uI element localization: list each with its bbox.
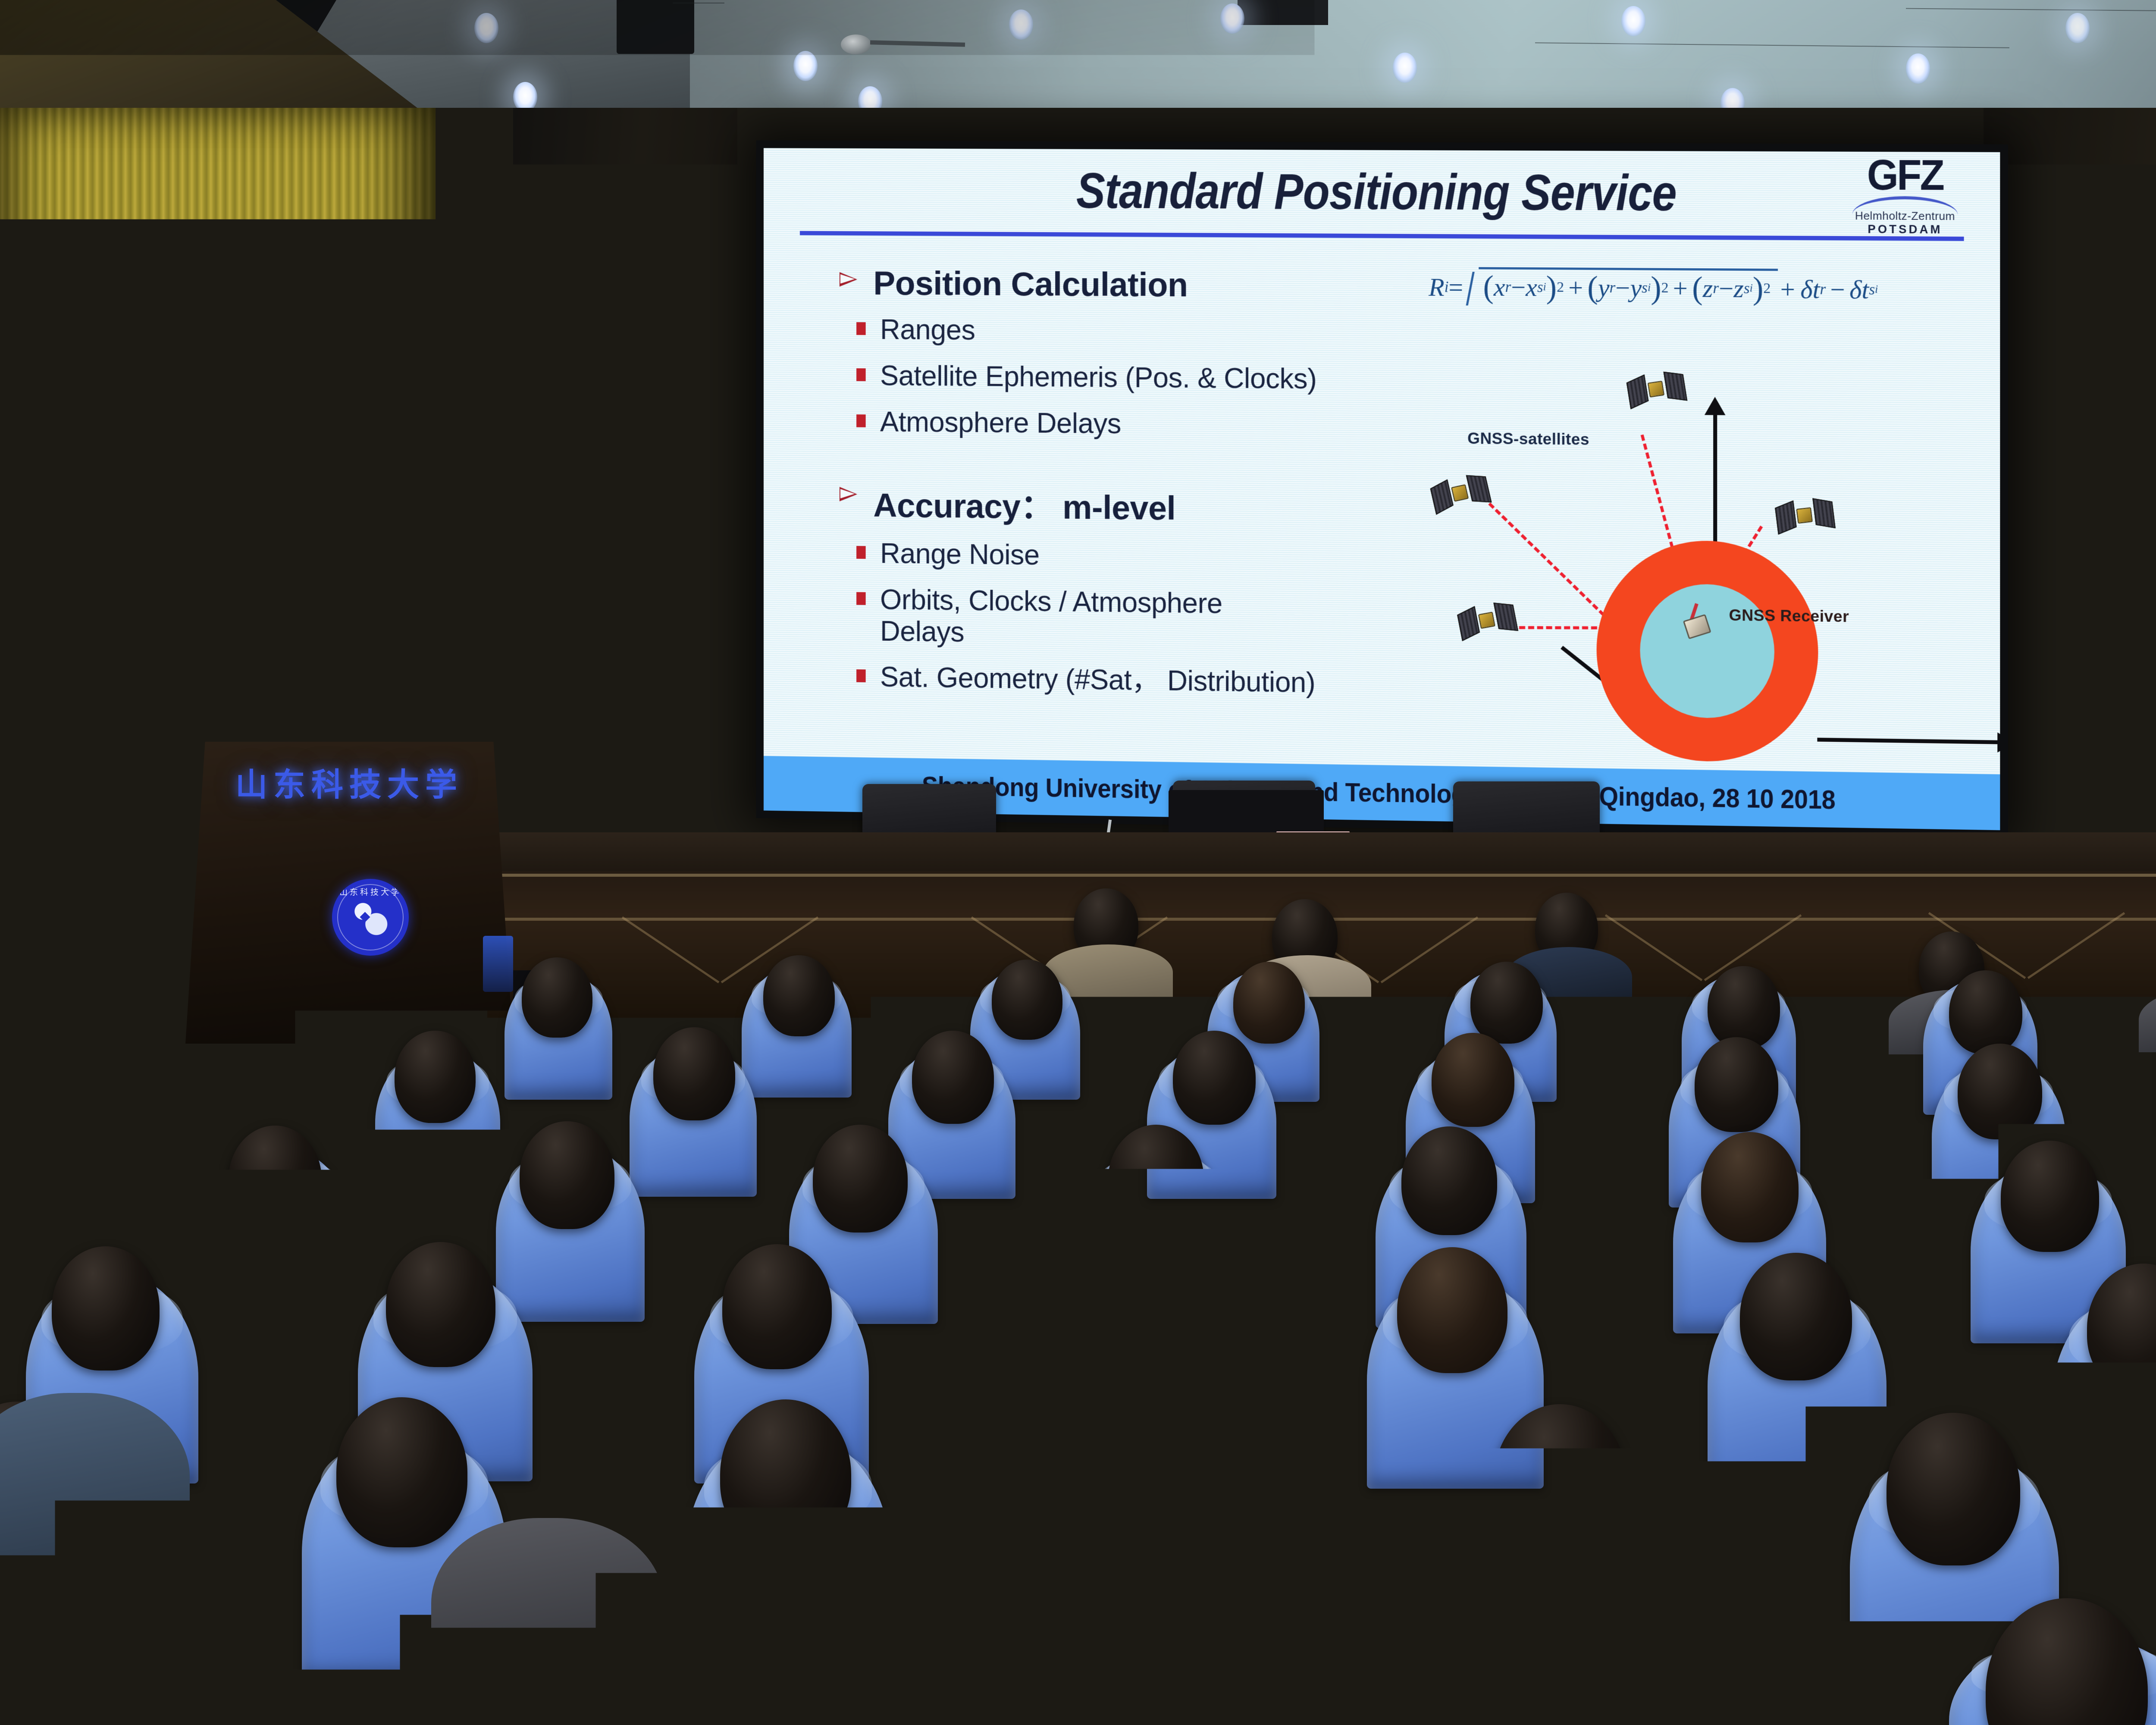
gnss-diagram: GNSS-satellites GNSS Receiver (1394, 353, 2000, 793)
section-heading-label: Accuracy： m-level (873, 479, 1175, 530)
projection-screen: Standard Positioning Service GFZ Helmhol… (764, 148, 2000, 830)
slide-sub-bullets: Range Noise Orbits, Clocks / Atmosphere … (840, 537, 1407, 700)
slide-bullet-column: Position Calculation Ranges Satellite Ep… (840, 263, 1407, 715)
audience-head (763, 955, 835, 1036)
arrow-bullet-icon (840, 483, 864, 510)
audience-head (229, 1126, 322, 1233)
audience-head (1494, 1404, 1626, 1555)
satellite-icon (1456, 599, 1519, 643)
eq-term-a-sub: r (1505, 279, 1511, 296)
list-item: Atmosphere Delays (840, 406, 1407, 442)
audience-head (2001, 1141, 2099, 1252)
audience-head (813, 1125, 908, 1233)
eq-clock-receiver: δt (1800, 274, 1820, 304)
list-item: Orbits, Clocks / Atmosphere Delays (840, 583, 1248, 651)
emblem-mark-icon (352, 898, 389, 938)
slide-title-rule (800, 231, 1964, 241)
list-item-label: Orbits, Clocks / Atmosphere Delays (880, 583, 1248, 651)
eq-power: 2 (1763, 280, 1771, 297)
audience-head (336, 1397, 467, 1547)
audience-head (112, 1587, 272, 1725)
eq-plus: + (1568, 273, 1583, 302)
audience-head (1173, 1031, 1256, 1125)
ceiling-downlight (1220, 3, 1244, 34)
audience-head (1949, 970, 2022, 1054)
podium-inscription: 山东科技大学 (203, 759, 496, 805)
list-item-label: Ranges (880, 314, 975, 346)
range-equation: Ri = (xr − xsi)2 + (yr − ysi)2 + (zr (1429, 264, 2000, 314)
emblem-arc-text: 山东科技大学 (332, 886, 409, 897)
eq-plus: + (1673, 273, 1688, 303)
square-bullet-icon (856, 368, 866, 381)
list-item-label: Satellite Ephemeris (Pos. & Clocks) (880, 360, 1317, 395)
square-bullet-icon (856, 670, 866, 683)
axis-z-arrowhead (1705, 397, 1726, 415)
list-item: Satellite Ephemeris (Pos. & Clocks) (840, 360, 1407, 396)
eq-term-a: y (1598, 273, 1610, 302)
audience-head (522, 957, 592, 1038)
eq-plus-tail: + (1780, 274, 1795, 304)
satellite-icon (1626, 369, 1688, 411)
square-bullet-icon (856, 546, 866, 559)
ceiling-downlight (474, 13, 498, 43)
eq-term-b-sub2: i (1648, 282, 1651, 294)
list-item: Sat. Geometry (#Sat， Distribution) (840, 661, 1407, 700)
equation-lhs-sub: i (1445, 279, 1449, 296)
audience-head (1887, 1413, 2020, 1565)
gfz-subtitle-1: Helmholtz-Zentrum (1835, 209, 1975, 223)
eq-minus-tail: − (1830, 274, 1845, 304)
slide-section-heading: Accuracy： m-level (840, 478, 1407, 532)
ceiling-downlight (2065, 13, 2090, 43)
audience-head (1397, 1247, 1507, 1373)
audience-head (1958, 1044, 2042, 1139)
list-item-label: Sat. Geometry (#Sat， Distribution) (880, 661, 1315, 699)
projection-screen-frame: Standard Positioning Service GFZ Helmhol… (756, 140, 2008, 838)
list-item: Range Noise (840, 537, 1407, 575)
eq-power: 2 (1557, 279, 1564, 295)
presenter-finger (506, 586, 514, 607)
eq-clock-satellite: δt (1849, 275, 1869, 305)
audience-head (1470, 962, 1543, 1044)
satellite-icon (1774, 496, 1836, 536)
audience-head (992, 960, 1062, 1040)
eq-clock-receiver-sub: r (1820, 281, 1826, 298)
equation-equals: = (1448, 272, 1463, 302)
audience-head (1695, 1037, 1778, 1132)
slide-title: Standard Positioning Service (836, 161, 1924, 223)
gfz-subtitle-2: POTSDAM (1835, 223, 1975, 237)
spotlight-lens-icon (841, 34, 871, 54)
audience-head (1401, 1126, 1497, 1235)
eq-term-b-sub2: i (1543, 281, 1546, 293)
eq-term-b-sub: s (1744, 280, 1750, 297)
eq-term-a: x (1494, 272, 1505, 302)
eq-clock-satellite-sub: s (1869, 281, 1875, 298)
lecture-hall-photo: Standard Positioning Service GFZ Helmhol… (0, 0, 2156, 1725)
audience-head (1701, 1132, 1799, 1242)
audience-head (1740, 1253, 1852, 1380)
audience-head (52, 1246, 160, 1371)
diagram-label-satellites: GNSS-satellites (1467, 430, 1589, 449)
audience-head (722, 1244, 832, 1369)
earth-surface (1640, 583, 1774, 719)
square-bullet-icon (856, 322, 866, 335)
stage-moulding (487, 874, 2156, 877)
ceiling-downlight (1621, 6, 1645, 36)
axis-x (1817, 738, 2000, 744)
audience-head (1108, 1125, 1204, 1233)
projector-housing-icon (617, 0, 694, 54)
audience-head (653, 1027, 735, 1120)
eq-minus: − (1511, 272, 1526, 302)
eq-power: 2 (1661, 280, 1669, 296)
ceiling-downlight (1009, 9, 1033, 40)
audience-head (720, 1399, 851, 1549)
eq-term-a-sub: r (1713, 279, 1719, 297)
presentation-slide: Standard Positioning Service GFZ Helmhol… (764, 148, 2000, 830)
equation-lhs: R (1429, 272, 1445, 302)
eq-term-a: z (1703, 273, 1713, 304)
eq-minus: − (1615, 273, 1630, 303)
diagram-label-receiver: GNSS Receiver (1729, 606, 1849, 626)
audience-head (520, 1121, 614, 1229)
ceiling-downlight (1906, 53, 1930, 84)
arrow-bullet-icon (840, 269, 864, 295)
ceiling-duct (1238, 0, 1328, 25)
satellite-icon (1429, 471, 1492, 517)
audience-head (1233, 962, 1305, 1044)
ceiling-downlight (793, 51, 818, 81)
list-item-label: Range Noise (880, 537, 1040, 571)
eq-term-a-sub: r (1610, 279, 1616, 296)
audience-head (395, 1031, 476, 1123)
list-item: Ranges (840, 314, 1407, 349)
eq-term-b: x (1526, 272, 1537, 302)
square-bullet-icon (856, 414, 866, 427)
axis-x-arrowhead (1997, 732, 2000, 753)
audience-head (912, 1031, 994, 1124)
university-emblem: 山东科技大学 (332, 879, 409, 956)
eq-term-b-sub2: i (1750, 282, 1753, 295)
eq-term-b: y (1630, 273, 1642, 303)
audience-head (386, 1242, 495, 1367)
audience-shoulders (0, 1393, 190, 1574)
section-heading-label: Position Calculation (873, 264, 1188, 305)
square-bullet-icon (856, 592, 866, 605)
gfz-wordmark: GFZ (1839, 155, 1971, 195)
ceiling-downlight (1393, 53, 1417, 83)
audience-head (1059, 1244, 1169, 1370)
audience-shoulders (1143, 1406, 1350, 1552)
eq-clock-satellite-sub2: i (1875, 284, 1878, 296)
list-item-label: Atmosphere Delays (880, 406, 1121, 439)
slide-sub-bullets: Ranges Satellite Ephemeris (Pos. & Clock… (840, 314, 1407, 442)
presenter-glasses-icon (323, 576, 360, 587)
eq-minus: − (1719, 273, 1733, 304)
eq-term-b-sub: s (1642, 279, 1648, 297)
audience-shoulders (431, 1518, 664, 1703)
eq-term-b: z (1733, 273, 1744, 304)
slide-section-heading: Position Calculation (840, 263, 1407, 306)
audience-head (1708, 966, 1780, 1049)
stage-floor-light (483, 936, 513, 992)
audience-head (1432, 1033, 1514, 1127)
equation-radical: (xr − xsi)2 + (yr − ysi)2 + (zr − zsi)2 (1466, 264, 1775, 312)
eq-term-b-sub: s (1537, 279, 1543, 296)
gfz-logo: GFZ Helmholtz-Zentrum POTSDAM (1835, 155, 1975, 237)
microphone-status-led (429, 668, 439, 676)
